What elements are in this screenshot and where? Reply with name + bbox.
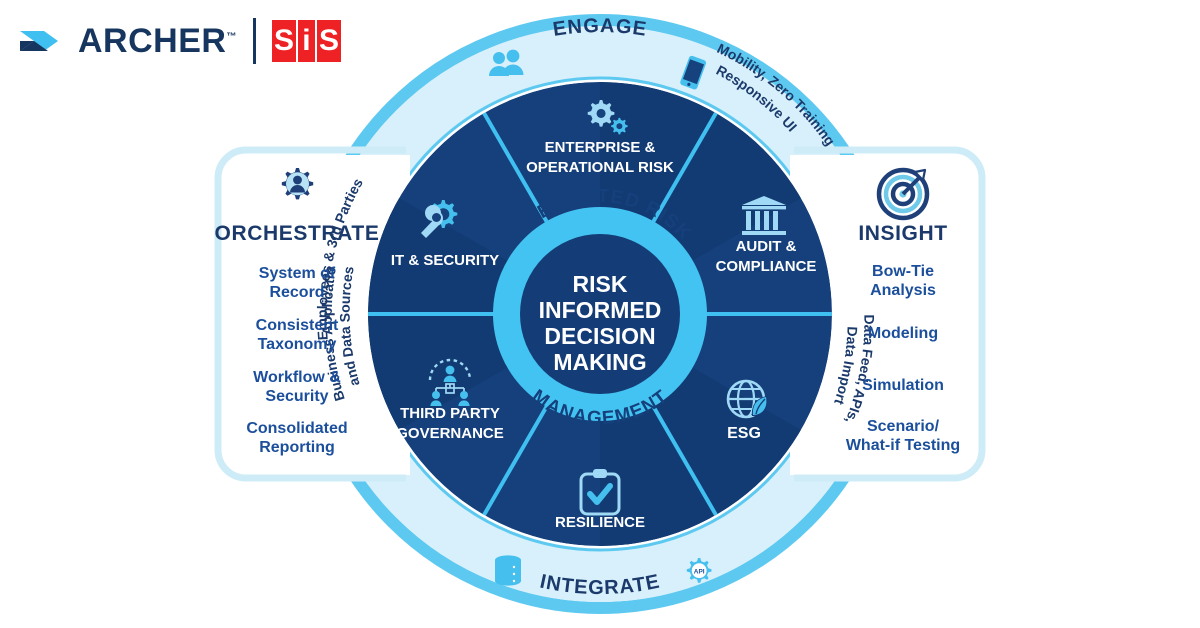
segment-label-tpg-line1: THIRD PARTY [400, 405, 500, 422]
partner-letter-2: i [298, 20, 315, 62]
core-line-3: DECISION [544, 323, 655, 349]
insight-item-1-line1: Bow-Tie [872, 263, 934, 280]
panel-orchestrate-title: ORCHESTRATE [215, 222, 380, 245]
core-line-2: INFORMED [539, 297, 662, 323]
api-gear-icon-text: API [694, 568, 705, 575]
segment-label-it-security: IT & SECURITY [391, 252, 499, 269]
partner-letter-1: S [272, 20, 296, 62]
partner-letter-3: S [317, 20, 341, 62]
insight-item-2-line1: Modeling [868, 325, 938, 342]
segment-label-esg: ESG [727, 425, 761, 442]
orchestrate-item-2-line2: Taxonomy [258, 336, 337, 353]
archer-mark-icon [18, 21, 62, 61]
logo-divider [253, 18, 256, 64]
segment-label-audit-line1: AUDIT & [736, 238, 797, 255]
core-line-1: RISK [573, 271, 628, 297]
insight-item-4-line2: What-if Testing [846, 437, 960, 454]
core-line-4: MAKING [553, 349, 646, 375]
database-icon [495, 555, 521, 585]
partner-logo: S i S [272, 20, 341, 62]
orchestrate-item-2-line1: Consistent [256, 317, 339, 334]
segment-label-tpg-line2: GOVERNANCE [396, 425, 504, 442]
diagram-canvas: ARCHER™ S i S [0, 0, 1200, 628]
insight-item-1-line2: Analysis [870, 282, 936, 299]
orchestrate-item-4-line1: Consolidated [246, 420, 347, 437]
brand-name-text: ARCHER [78, 22, 226, 60]
panel-insight-title: INSIGHT [858, 222, 947, 245]
brand-trademark: ™ [226, 31, 237, 42]
brand-logo: ARCHER™ S i S [18, 18, 341, 64]
brand-name: ARCHER™ [78, 22, 237, 61]
api-gear-icon: API [687, 558, 712, 583]
orchestrate-item-1-line2: Record [269, 284, 324, 301]
orchestrate-item-3-line2: Security [265, 388, 328, 405]
orchestrate-item-3-line1: Workflow & [253, 369, 341, 386]
gear-person-icon [282, 168, 313, 199]
target-dart-icon [879, 170, 927, 218]
segment-label-enterprise-line2: OPERATIONAL RISK [526, 159, 674, 176]
insight-item-3-line1: Simulation [862, 377, 944, 394]
insight-item-4-line1: Scenario/ [867, 418, 940, 435]
segment-label-audit-line2: COMPLIANCE [716, 258, 817, 275]
segment-label-enterprise-line1: ENTERPRISE & [545, 139, 656, 156]
irm-wheel-diagram: INTEGRATED RISK MANAGEMENT RISK INFORMED… [0, 0, 1200, 628]
orchestrate-item-4-line2: Reporting [259, 439, 335, 456]
segment-label-resilience: RESILIENCE [555, 514, 645, 531]
orchestrate-item-1-line1: System of [259, 265, 336, 282]
